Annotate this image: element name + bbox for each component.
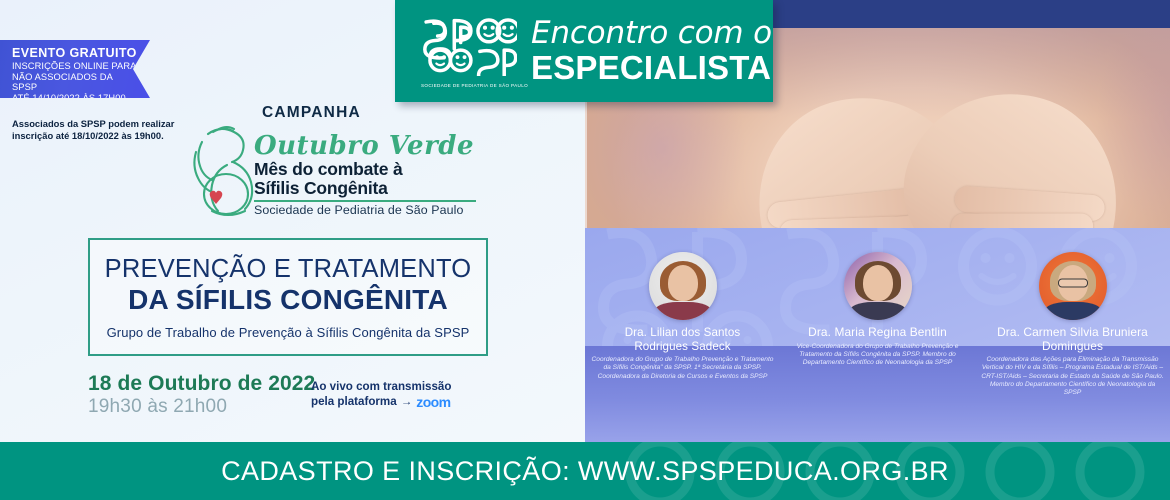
speaker-role-2: Vice-Coordenadora do Grupo de Trabalho P… [780, 343, 975, 368]
speaker-name-3-line-1: Dra. Carmen Silvia Bruniera Domingues [975, 326, 1170, 353]
header-line-2: ESPECIALISTA [531, 50, 772, 86]
event-title-box: PREVENÇÃO E TRATAMENTO DA SÍFILIS CONGÊN… [88, 238, 488, 356]
ribbon-title: EVENTO GRATUITO [12, 46, 140, 60]
campaign-line-1: Mês do combate à [254, 160, 476, 179]
speaker-card-1: Dra. Lilian dos Santos Rodrigues Sadeck … [585, 252, 780, 381]
speaker-role-1: Coordenadora do Grupo de Trabalho Preven… [585, 356, 780, 381]
ribbon-subline-1: INSCRIÇÕES ONLINE PARA [12, 61, 140, 72]
event-time: 19h30 às 21h00 [88, 396, 227, 418]
face-shape [863, 265, 893, 301]
outubro-verde-logo: Outubro Verde Mês do combate à Sífilis C… [178, 118, 478, 226]
header-line-1: Encontro com o [531, 16, 772, 50]
header-text-group: Encontro com o ESPECIALISTA [531, 16, 772, 86]
free-event-ribbon: EVENTO GRATUITO INSCRIÇÕES ONLINE PARA N… [0, 40, 150, 98]
event-banner: EVENTO GRATUITO INSCRIÇÕES ONLINE PARA N… [0, 0, 1170, 500]
logo-text-group: Outubro Verde Mês do combate à Sífilis C… [254, 132, 476, 218]
live-line-2: pela plataforma [311, 395, 397, 410]
campaign-line-2: Sífilis Congênita [254, 179, 476, 198]
spsp-maze-logo-icon [421, 14, 517, 76]
event-subtitle: Grupo de Trabalho de Prevenção à Sífilis… [107, 325, 470, 340]
speakers-section: Dra. Lilian dos Santos Rodrigues Sadeck … [585, 228, 1170, 442]
speaker-photo-2 [844, 252, 912, 320]
shoulders-shape [1044, 302, 1102, 320]
speaker-name-1-line-2: Rodrigues Sadeck [585, 340, 780, 354]
event-date: 18 de Outubro de 2022 [88, 372, 315, 396]
event-title-line-1: PREVENÇÃO E TRATAMENTO [105, 254, 472, 284]
header-badge: SOCIEDADE DE PEDIATRIA DE SÃO PAULO Enco… [395, 0, 773, 102]
spsp-logo: SOCIEDADE DE PEDIATRIA DE SÃO PAULO [421, 14, 517, 88]
face-shape [668, 265, 698, 301]
live-line-2-row: pela plataforma → zoom [311, 395, 451, 410]
speaker-name-2-line-1: Dra. Maria Regina Bentlin [780, 326, 975, 340]
speaker-card-2: Dra. Maria Regina Bentlin Vice-Coordenad… [780, 252, 975, 367]
zoom-logo: zoom [416, 395, 450, 410]
ribbon-subline-3: ATÉ 14/10/2022 ÀS 17H00 [12, 93, 140, 104]
speaker-photo-3 [1039, 252, 1107, 320]
arrow-right-icon: → [401, 395, 413, 410]
speaker-photo-1 [649, 252, 717, 320]
ribbon-subline-2: NÃO ASSOCIADOS DA SPSP [12, 72, 140, 93]
speaker-name-1-line-1: Dra. Lilian dos Santos [585, 326, 780, 340]
speaker-role-3: Coordenadora das Ações para Eliminação d… [975, 356, 1170, 397]
shoulders-shape [654, 302, 712, 320]
live-line-1: Ao vivo com transmissão [311, 380, 451, 395]
society-name: Sociedade de Pediatria de São Paulo [254, 202, 476, 218]
speaker-card-3: Dra. Carmen Silvia Bruniera Domingues Co… [975, 252, 1170, 397]
footer-registration-text: CADASTRO E INSCRIÇÃO: WWW.SPSPEDUCA.ORG.… [221, 456, 949, 487]
spsp-logo-caption: SOCIEDADE DE PEDIATRIA DE SÃO PAULO [421, 83, 517, 88]
live-transmission-info: Ao vivo com transmissão pela plataforma … [311, 380, 451, 409]
glasses-icon [1058, 278, 1088, 287]
shoulders-shape [849, 302, 907, 320]
footer-bar: CADASTRO E INSCRIÇÃO: WWW.SPSPEDUCA.ORG.… [0, 442, 1170, 500]
event-title-line-2: DA SÍFILIS CONGÊNITA [128, 284, 448, 316]
outubro-verde-script: Outubro Verde [254, 132, 476, 160]
